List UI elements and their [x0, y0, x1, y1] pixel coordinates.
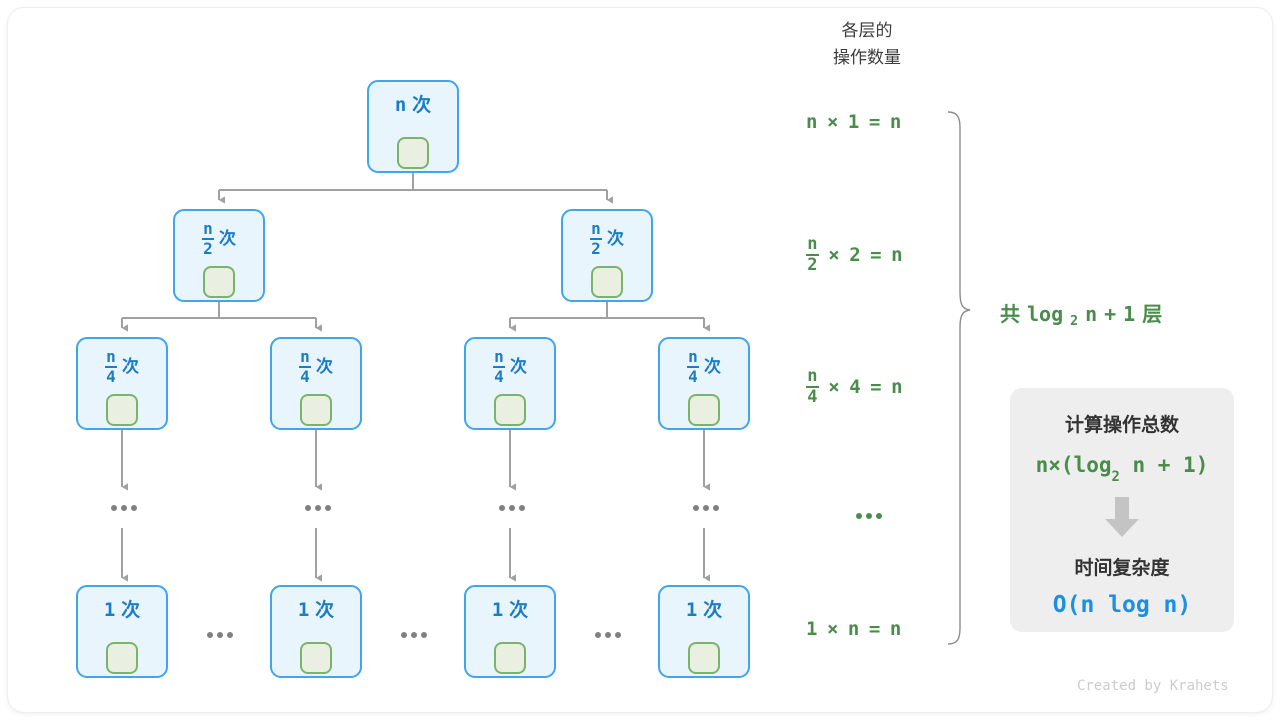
brace-label-prefix: 共: [1000, 298, 1020, 327]
credit-text: Created by Krahets: [1077, 678, 1229, 694]
formula-multiplier: 2: [849, 246, 860, 265]
inner-square: [495, 643, 525, 673]
summary-complexity-value: O(n log n): [1053, 592, 1191, 618]
formula-result: n: [890, 620, 901, 639]
inner-square: [689, 643, 719, 673]
summary-panel: 计算操作总数 n×(log2 n + 1) 时间复杂度 O(n log n): [1010, 388, 1234, 632]
formula-equals: =: [870, 246, 881, 265]
summary-complexity-title: 时间复杂度: [1074, 553, 1169, 580]
formula-equals: =: [869, 620, 880, 639]
formula-multiplier: 4: [849, 378, 860, 397]
brace-label-arg: n: [1085, 302, 1097, 326]
brace-label-suffix: 层: [1142, 298, 1162, 327]
formula-row-4: 1 × n = n: [806, 620, 901, 639]
leaf-separator-ellipsis-1: [401, 632, 427, 638]
formula-result: n: [891, 378, 902, 397]
formula-multiplier: 1: [848, 113, 859, 132]
formula-times: ×: [828, 246, 839, 265]
brace-label-plus: +: [1104, 302, 1116, 326]
formula-row-1: n 2 × 2 = n: [806, 236, 903, 274]
formula-result: n: [891, 246, 902, 265]
summary-total-formula-head: n×(log: [1036, 453, 1112, 477]
formula-equals: =: [869, 113, 880, 132]
formula-left: n: [806, 113, 817, 132]
summary-total-title: 计算操作总数: [1065, 410, 1179, 437]
leaf-separator-ellipsis-2: [595, 632, 621, 638]
formula-left: 1: [806, 620, 817, 639]
leaf-separator-ellipsis-0: [207, 632, 233, 638]
diagram-canvas: 各层的 操作数量 n 次 n 2 次 n 2 次: [0, 0, 1280, 720]
brace-label-one: 1: [1123, 302, 1135, 326]
formula-ellipsis: [856, 513, 882, 519]
formula-times: ×: [827, 113, 838, 132]
summary-total-formula-tail: n + 1): [1120, 453, 1209, 477]
formula-row-0: n × 1 = n: [806, 113, 901, 132]
down-arrow-icon: [1099, 495, 1145, 539]
formula-row-2: n 4 × 4 = n: [806, 368, 903, 406]
brace-label-log: log: [1027, 302, 1063, 326]
formula-left-fraction: n 4: [806, 368, 819, 406]
fraction-numerator: n: [807, 368, 817, 385]
brace-label: 共 log2 n + 1 层: [1000, 298, 1162, 327]
formula-multiplier: n: [848, 620, 859, 639]
fraction-denominator: 2: [807, 257, 817, 274]
fraction-denominator: 4: [807, 389, 817, 406]
formula-equals: =: [870, 378, 881, 397]
formula-times: ×: [827, 620, 838, 639]
brace-label-base: 2: [1070, 314, 1078, 329]
formula-left-fraction: n 2: [806, 236, 819, 274]
formula-times: ×: [828, 378, 839, 397]
inner-square: [107, 643, 137, 673]
formula-result: n: [890, 113, 901, 132]
summary-total-formula: n×(log2 n + 1): [1036, 453, 1209, 481]
inner-square: [301, 643, 331, 673]
summary-total-formula-base: 2: [1111, 469, 1119, 485]
fraction-numerator: n: [807, 236, 817, 253]
